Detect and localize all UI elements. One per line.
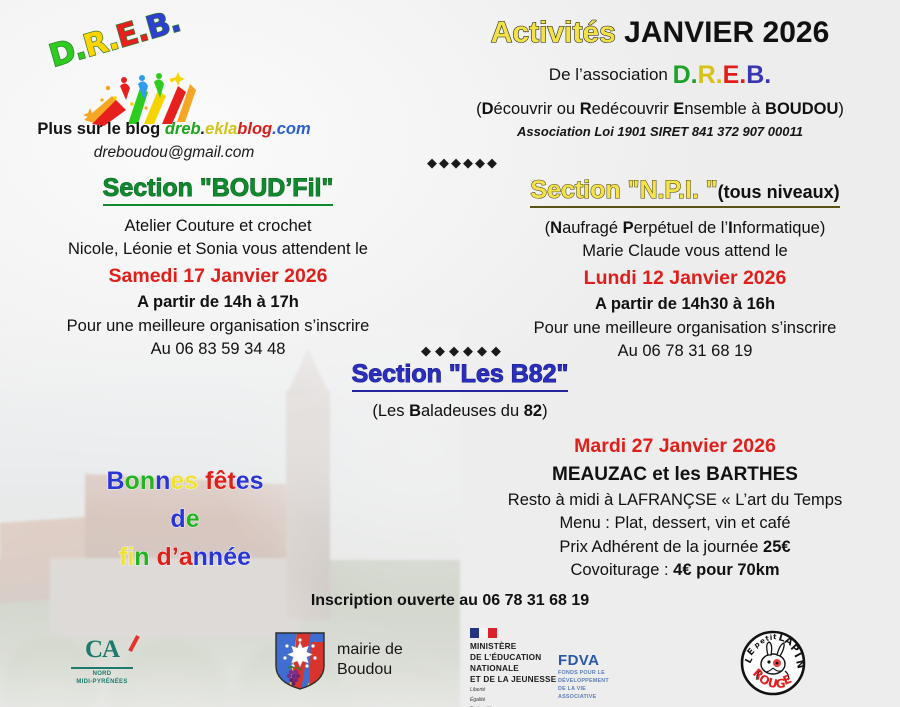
greeting-char-line2-1: e bbox=[186, 505, 200, 533]
dreb-logo: D.R.E.B. bbox=[52, 12, 202, 124]
blog-url-part-3: ekla bbox=[205, 120, 237, 138]
fdva-logo: FDVA FONDS POUR LE DÉVELOPPEMENT DE LA V… bbox=[558, 652, 609, 701]
greeting-char-line3-3 bbox=[150, 543, 157, 571]
greeting-char-line1-9: t bbox=[227, 467, 235, 495]
association-expansion: (Découvrir ou Redécouvrir Ensemble à BOU… bbox=[440, 100, 880, 119]
greeting-line-2: de bbox=[50, 500, 320, 538]
blog-url-part-5: .com bbox=[272, 120, 311, 138]
contact-email[interactable]: dreboudou@gmail.com bbox=[24, 144, 324, 162]
blog-url-part-1: dreb bbox=[165, 120, 201, 138]
b82-exp-baladeuses: aladeuses du bbox=[421, 402, 524, 420]
separator-top-left: ◆◆◆◆◆◆ bbox=[413, 157, 513, 170]
fdva-sub1: FONDS POUR LE bbox=[558, 669, 609, 677]
association-line: De l’association D.R.E.B. bbox=[440, 62, 880, 90]
assoc-letter-d: D. bbox=[673, 61, 698, 89]
title-activites-word: Activités bbox=[491, 16, 624, 49]
b82-exp-b: B bbox=[409, 402, 421, 420]
greeting-char-line3-2: n bbox=[134, 543, 149, 571]
section-npi-title-wrap: Section "N.P.I. "(tous niveaux) bbox=[530, 176, 839, 208]
season-greeting: Bonnes fêtes de fin d’année bbox=[50, 462, 320, 576]
assoc-letter-b: B. bbox=[746, 61, 771, 89]
section-npi-expansion: (Naufragé Perpétuel de l’Informatique) bbox=[478, 217, 892, 240]
b82-price-value: 25€ bbox=[763, 538, 791, 556]
b82-exp-open: (Les bbox=[372, 402, 409, 420]
npi-exp-naufrage: aufragé bbox=[562, 219, 623, 237]
mairie-label-line1: mairie de bbox=[337, 640, 403, 660]
greeting-line-3: fin d’année bbox=[50, 538, 320, 576]
npi-exp-informatique: nformatique) bbox=[733, 219, 826, 237]
ca-region-line1: NORD bbox=[52, 671, 152, 679]
b82-exp-82: 82 bbox=[524, 402, 542, 420]
section-b82: Section "Les B82" (Les Baladeuses du 82) bbox=[260, 360, 660, 423]
mairie-label-line2: Boudou bbox=[337, 660, 403, 680]
firework-burst-icon bbox=[82, 70, 197, 126]
blog-url-part-4: blog bbox=[237, 120, 272, 138]
greeting-char-line1-3: n bbox=[155, 467, 170, 495]
exp-boudou: BOUDOU bbox=[765, 100, 838, 118]
section-npi-hours: A partir de 14h30 à 16h bbox=[478, 293, 892, 317]
page-title: Activités JANVIER 2026 bbox=[440, 16, 880, 49]
section-b82-price: Prix Adhérent de la journée 25€ bbox=[470, 536, 880, 559]
poster-canvas: D.R.E.B. bbox=[0, 0, 900, 707]
section-boudfil: Section "BOUD’Fil" Atelier Couture et cr… bbox=[18, 174, 418, 362]
b82-price-label: Prix Adhérent de la journée bbox=[559, 538, 763, 556]
blog-prefix-label: Plus sur le blog bbox=[37, 120, 164, 138]
section-b82-title: Section "Les B82" bbox=[352, 360, 569, 392]
section-b82-place: MEAUZAC et les BARTHES bbox=[470, 461, 880, 489]
credit-agricole-logo: CA NORD MIDI-PYRÉNÉES bbox=[52, 636, 152, 688]
exp-d: D bbox=[482, 100, 494, 118]
section-b82-expansion: (Les Baladeuses du 82) bbox=[260, 400, 660, 423]
section-npi-note: Pour une meilleure organisation s’inscri… bbox=[478, 317, 892, 340]
petit-lapin-rouge-logo: L E p e t i t L A P I N bbox=[738, 630, 808, 696]
section-b82-carpool: Covoiturage : 4€ pour 70km bbox=[470, 559, 880, 582]
section-boudfil-subtitle: Atelier Couture et crochet bbox=[18, 215, 418, 238]
greeting-char-line1-11: s bbox=[250, 467, 264, 495]
french-flag-icon bbox=[470, 628, 497, 638]
exp-decouvrir: écouvrir ou bbox=[494, 100, 580, 118]
npi-exp-perpetuel: erpétuel de l’ bbox=[634, 219, 728, 237]
section-boudfil-hours: A partir de 14h à 17h bbox=[18, 291, 418, 315]
mairie-label: mairie de Boudou bbox=[337, 640, 403, 680]
assoc-letter-e: E. bbox=[723, 61, 747, 89]
greeting-char-line1-8: ê bbox=[213, 467, 227, 495]
fdva-title: FDVA bbox=[558, 652, 609, 669]
inscription-line: Inscription ouverte au 06 78 31 68 19 bbox=[250, 592, 650, 610]
section-boudfil-note: Pour une meilleure organisation s’inscri… bbox=[18, 315, 418, 338]
mairie-boudou-logo: mairie de Boudou bbox=[275, 632, 445, 694]
exp-r: R bbox=[580, 100, 592, 118]
fdva-sub3: DE LA VIE bbox=[558, 685, 609, 693]
blog-line: Plus sur le blog dreb.eklablog.com bbox=[24, 120, 324, 139]
greeting-char-line1-5: s bbox=[184, 467, 198, 495]
greeting-char-line3-6: a bbox=[179, 543, 193, 571]
greeting-char-line3-4: d bbox=[157, 543, 172, 571]
section-b82-menu: Menu : Plat, dessert, vin et café bbox=[470, 512, 880, 535]
greeting-char-line1-0: B bbox=[106, 467, 124, 495]
siret-line: Association Loi 1901 SIRET 841 372 907 0… bbox=[440, 124, 880, 139]
section-npi-animators: Marie Claude vous attend le bbox=[478, 240, 892, 263]
rabbit-circle-icon: L E p e t i t L A P I N bbox=[738, 630, 808, 696]
b82-exp-close: ) bbox=[542, 402, 548, 420]
greeting-char-line3-9: é bbox=[223, 543, 237, 571]
section-npi-title-suffix: (tous niveaux) bbox=[718, 182, 840, 202]
npi-exp-n: N bbox=[550, 219, 562, 237]
section-boudfil-animators: Nicole, Léonie et Sonia vous attendent l… bbox=[18, 238, 418, 261]
greeting-char-line3-10: e bbox=[237, 543, 251, 571]
title-month-year: JANVIER 2026 bbox=[624, 16, 829, 49]
greeting-char-line2-0: d bbox=[170, 505, 185, 533]
association-acronym: D.R.E.B. bbox=[673, 61, 772, 89]
ca-region-line2: MIDI-PYRÉNÉES bbox=[52, 679, 152, 687]
boudou-coat-of-arms-icon bbox=[275, 632, 325, 690]
fdva-sub4: ASSOCIATIVE bbox=[558, 693, 609, 701]
b82-carpool-value: 4€ pour 70km bbox=[673, 561, 779, 579]
exp-e: E bbox=[673, 100, 684, 118]
section-npi: Section "N.P.I. "(tous niveaux) (Naufrag… bbox=[478, 176, 892, 364]
exp-ensemble: nsemble à bbox=[684, 100, 765, 118]
ministere-line1: MINISTÈRE bbox=[470, 641, 650, 652]
section-boudfil-title: Section "BOUD’Fil" bbox=[103, 174, 334, 206]
section-b82-details: Mardi 27 Janvier 2026 MEAUZAC et les BAR… bbox=[470, 432, 880, 582]
assoc-letter-r: R. bbox=[698, 61, 723, 89]
greeting-char-line1-4: e bbox=[170, 467, 184, 495]
section-b82-date: Mardi 27 Janvier 2026 bbox=[470, 432, 880, 461]
b82-carpool-label: Covoiturage : bbox=[570, 561, 673, 579]
greeting-char-line1-1: o bbox=[125, 467, 140, 495]
section-boudfil-phone: Au 06 83 59 34 48 bbox=[18, 338, 418, 361]
section-npi-title: Section "N.P.I. " bbox=[530, 176, 717, 205]
greeting-char-line3-5: ’ bbox=[172, 543, 179, 571]
exp-redecouvrir: edécouvrir bbox=[592, 100, 674, 118]
greeting-char-line3-8: n bbox=[208, 543, 223, 571]
association-prefix: De l’association bbox=[549, 65, 673, 84]
greeting-char-line3-7: n bbox=[193, 543, 208, 571]
ministere-education-logo: MINISTÈRE DE L’ÉDUCATION NATIONALE ET DE… bbox=[470, 628, 650, 694]
exp-close: ) bbox=[838, 100, 844, 118]
npi-exp-p: P bbox=[623, 219, 634, 237]
ca-divider bbox=[71, 667, 133, 669]
blog-link[interactable]: dreb.eklablog.com bbox=[165, 120, 311, 138]
greeting-char-line1-2: n bbox=[140, 467, 155, 495]
fdva-sub2: DÉVELOPPEMENT bbox=[558, 677, 609, 685]
section-b82-resto: Resto à midi à LAFRANÇSE « L’art du Temp… bbox=[470, 489, 880, 512]
section-npi-date: Lundi 12 Janvier 2026 bbox=[478, 264, 892, 293]
section-boudfil-date: Samedi 17 Janvier 2026 bbox=[18, 262, 418, 291]
greeting-line-1: Bonnes fêtes bbox=[50, 462, 320, 500]
greeting-char-line1-10: e bbox=[236, 467, 250, 495]
